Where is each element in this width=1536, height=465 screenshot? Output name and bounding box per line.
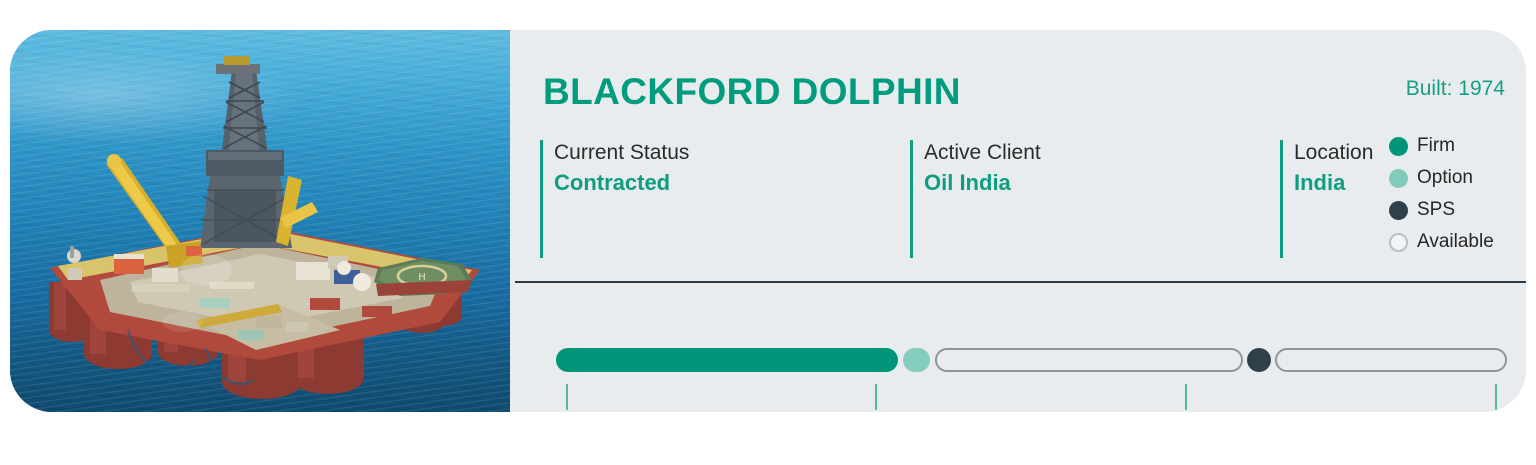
field-current-status: Current Status Contracted bbox=[540, 140, 689, 258]
built-year-label: Built: 1974 bbox=[1406, 77, 1505, 101]
field-label: Current Status bbox=[554, 140, 689, 166]
legend-item-sps: SPS bbox=[1389, 194, 1509, 226]
timeline-tick bbox=[1495, 384, 1497, 410]
legend-item-firm: Firm bbox=[1389, 130, 1509, 162]
field-active-client: Active Client Oil India bbox=[910, 140, 1041, 258]
sps-swatch-icon bbox=[1389, 201, 1408, 220]
svg-text:H: H bbox=[418, 272, 426, 283]
available-swatch-icon bbox=[1389, 233, 1408, 252]
field-value: Contracted bbox=[554, 168, 689, 198]
legend-label: Available bbox=[1417, 231, 1494, 253]
timeline-tick bbox=[875, 384, 877, 410]
option-swatch-icon bbox=[1389, 169, 1408, 188]
timeline-tick bbox=[566, 384, 568, 410]
section-divider bbox=[515, 281, 1526, 283]
timeline-segment-firm[interactable] bbox=[556, 348, 898, 372]
timeline-segment-option[interactable] bbox=[903, 348, 930, 372]
legend-label: SPS bbox=[1417, 199, 1455, 221]
rig-details-panel: BLACKFORD DOLPHIN Built: 1974 Current St… bbox=[510, 30, 1526, 412]
field-value: India bbox=[1294, 168, 1373, 198]
field-location: Location India bbox=[1280, 140, 1373, 258]
page-title: BLACKFORD DOLPHIN bbox=[543, 71, 961, 113]
rig-summary-card: H bbox=[10, 30, 1526, 412]
firm-swatch-icon bbox=[1389, 137, 1408, 156]
field-value: Oil India bbox=[924, 168, 1041, 198]
timeline-tick bbox=[1185, 384, 1187, 410]
legend-item-option: Option bbox=[1389, 162, 1509, 194]
field-label: Active Client bbox=[924, 140, 1041, 166]
semi-submersible-drilling-rig-photo: H bbox=[10, 30, 510, 412]
timeline-legend: Firm Option SPS Available bbox=[1389, 130, 1509, 258]
timeline-segment-available[interactable] bbox=[1275, 348, 1507, 372]
legend-label: Firm bbox=[1417, 135, 1455, 157]
field-label: Location bbox=[1294, 140, 1373, 166]
drilling-rig-illustration: H bbox=[10, 30, 510, 412]
legend-item-available: Available bbox=[1389, 226, 1509, 258]
contract-timeline: 2025202620272028 bbox=[510, 296, 1526, 412]
rig-fleet-status-card-screenshot: H bbox=[0, 0, 1536, 465]
timeline-segment-available[interactable] bbox=[935, 348, 1243, 372]
timeline-segment-sps[interactable] bbox=[1247, 348, 1271, 372]
legend-label: Option bbox=[1417, 167, 1473, 189]
